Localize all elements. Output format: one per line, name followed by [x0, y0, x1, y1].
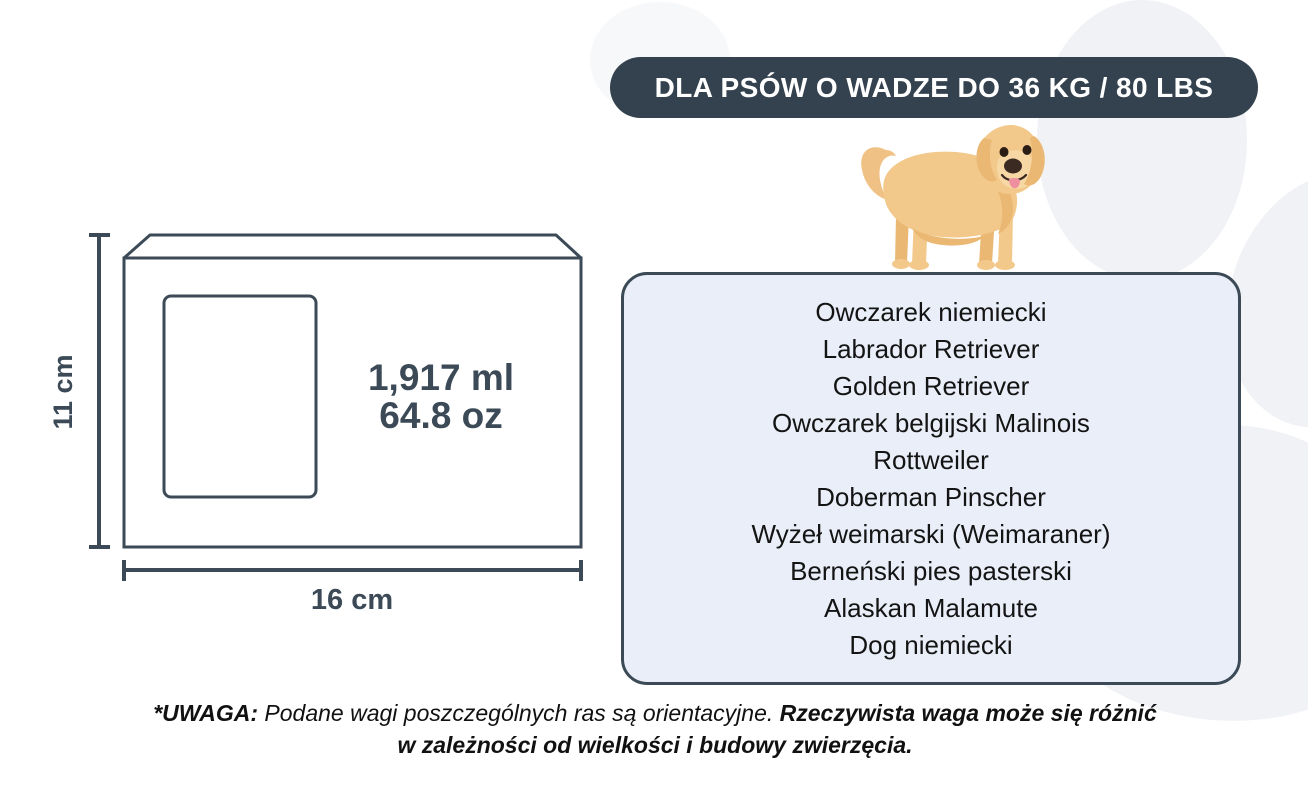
height-label: 11 cm [48, 354, 78, 429]
header-title: DLA PSÓW O WADZE DO 36 KG / 80 LBS [655, 72, 1214, 104]
breed-item: Golden Retriever [833, 368, 1030, 405]
height-dimension-line [89, 235, 110, 547]
golden-retriever-icon [852, 112, 1052, 274]
breed-item: Wyżeł weimarski (Weimaraner) [752, 516, 1111, 553]
breed-list-card: Owczarek niemiecki Labrador Retriever Go… [621, 272, 1241, 685]
footnote-lead: *UWAGA: [153, 700, 258, 726]
breed-item: Rottweiler [873, 442, 989, 479]
footnote-disclaimer: *UWAGA: Podane wagi poszczególnych ras s… [150, 697, 1160, 761]
footnote-body: Podane wagi poszczególnych ras są orient… [258, 700, 780, 726]
volume-oz-label: 64.8 oz [379, 395, 502, 436]
breed-item: Doberman Pinscher [816, 479, 1046, 516]
dog-eye-right [1023, 145, 1032, 155]
breed-item: Berneński pies pasterski [790, 553, 1072, 590]
width-dimension-line [124, 560, 581, 581]
breed-item: Owczarek belgijski Malinois [772, 405, 1090, 442]
width-label: 16 cm [311, 584, 393, 616]
volume-ml-label: 1,917 ml [368, 357, 514, 398]
breed-item: Labrador Retriever [823, 331, 1040, 368]
paw-toe-shape-1 [1037, 0, 1247, 280]
breed-item: Alaskan Malamute [824, 590, 1038, 627]
breed-item: Dog niemiecki [849, 627, 1012, 664]
header-banner: DLA PSÓW O WADZE DO 36 KG / 80 LBS [610, 57, 1258, 118]
box-window-cutout [164, 296, 316, 497]
dog-eye-left [1000, 147, 1009, 157]
breed-item: Owczarek niemiecki [815, 294, 1046, 331]
package-diagram: 11 cm 16 cm 1,917 ml 64.8 oz [0, 0, 610, 660]
dog-nose [1004, 159, 1022, 174]
box-top-flap [124, 235, 581, 258]
dog-paws [892, 259, 1015, 270]
